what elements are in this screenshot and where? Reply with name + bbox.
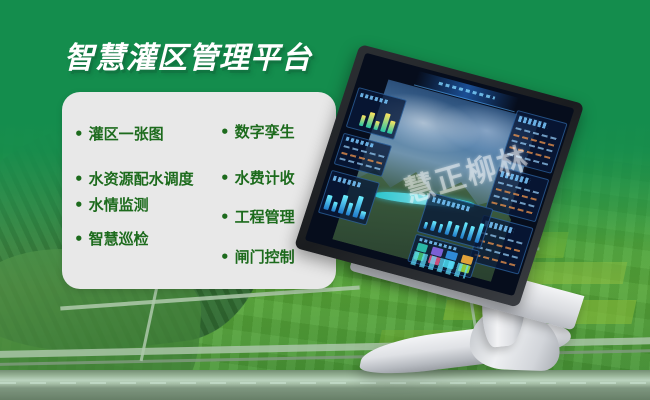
feature-label: 闸门控制 [235, 250, 295, 265]
bullet-icon: • [74, 232, 84, 247]
panel-title-bar [333, 175, 362, 187]
promo-banner: 智慧灌区管理平台 • 灌区一张图 • 水资源配水调度 • 水情监测 • 智慧巡检 [0, 0, 650, 400]
list-item[interactable]: • 水费计收 [220, 171, 295, 186]
list-item[interactable]: • 智慧巡检 [74, 232, 149, 247]
imac-monitor [352, 40, 642, 370]
bullet-icon: • [74, 172, 84, 187]
bullet-icon: • [74, 127, 84, 142]
bar-chart [323, 185, 371, 220]
data-rows [491, 179, 542, 217]
page-title: 智慧灌区管理平台 [64, 44, 312, 74]
list-item[interactable]: • 灌区一张图 [74, 127, 164, 142]
list-item[interactable]: • 水情监测 [74, 198, 149, 213]
bar-chart [351, 101, 399, 134]
feature-label: 水资源配水调度 [89, 172, 194, 187]
feature-label: 水情监测 [89, 198, 149, 213]
list-item[interactable]: • 工程管理 [220, 210, 295, 225]
list-item[interactable]: • 闸门控制 [220, 250, 295, 265]
feature-label: 智慧巡检 [89, 232, 149, 247]
bullet-icon: • [220, 250, 230, 265]
bullet-icon: • [220, 171, 230, 186]
feature-list: • 灌区一张图 • 水资源配水调度 • 水情监测 • 智慧巡检 • 数字孪生 [62, 92, 336, 289]
list-item[interactable]: • 数字孪生 [220, 125, 295, 140]
bullet-icon: • [74, 198, 84, 213]
data-rows [339, 143, 386, 173]
bullet-icon: • [220, 125, 230, 140]
dashboard-screen[interactable] [305, 53, 575, 296]
feature-label: 数字孪生 [235, 125, 295, 140]
list-item[interactable]: • 水资源配水调度 [74, 172, 194, 187]
bullet-icon: • [220, 210, 230, 225]
feature-label: 水费计收 [235, 171, 295, 186]
feature-label: 工程管理 [235, 210, 295, 225]
data-rows [507, 125, 559, 168]
feature-label: 灌区一张图 [89, 127, 164, 142]
